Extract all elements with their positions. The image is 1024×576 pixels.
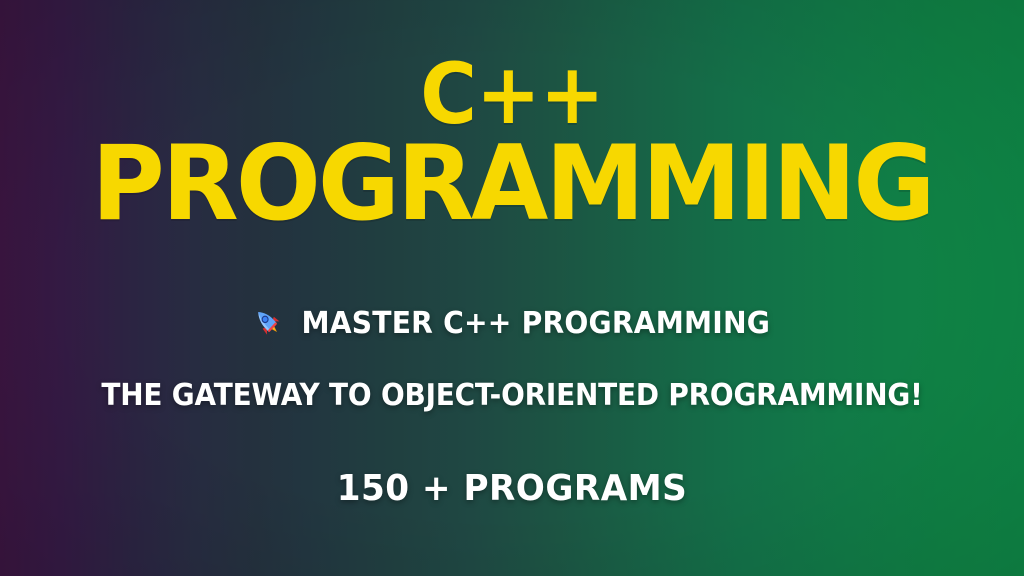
banner-canvas: C++ PROGRAMMING [0,0,1024,576]
title-line-cpp: C++ [41,56,983,133]
headline-block: C++ PROGRAMMING [0,56,1024,232]
subtitle-master-text: MASTER C++ PROGRAMMING [302,306,771,341]
subtitle-gateway-line: THE GATEWAY TO OBJECT-ORIENTED PROGRAMMI… [36,378,988,413]
rocket-icon [254,307,282,345]
banner-stage: C++ PROGRAMMING [0,0,1024,576]
title-line-programming: PROGRAMMING [15,137,1008,232]
subtitle-master-line: MASTER C++ PROGRAMMING [31,306,994,345]
subtitle-program-count: 150 + PROGRAMS [26,468,999,509]
